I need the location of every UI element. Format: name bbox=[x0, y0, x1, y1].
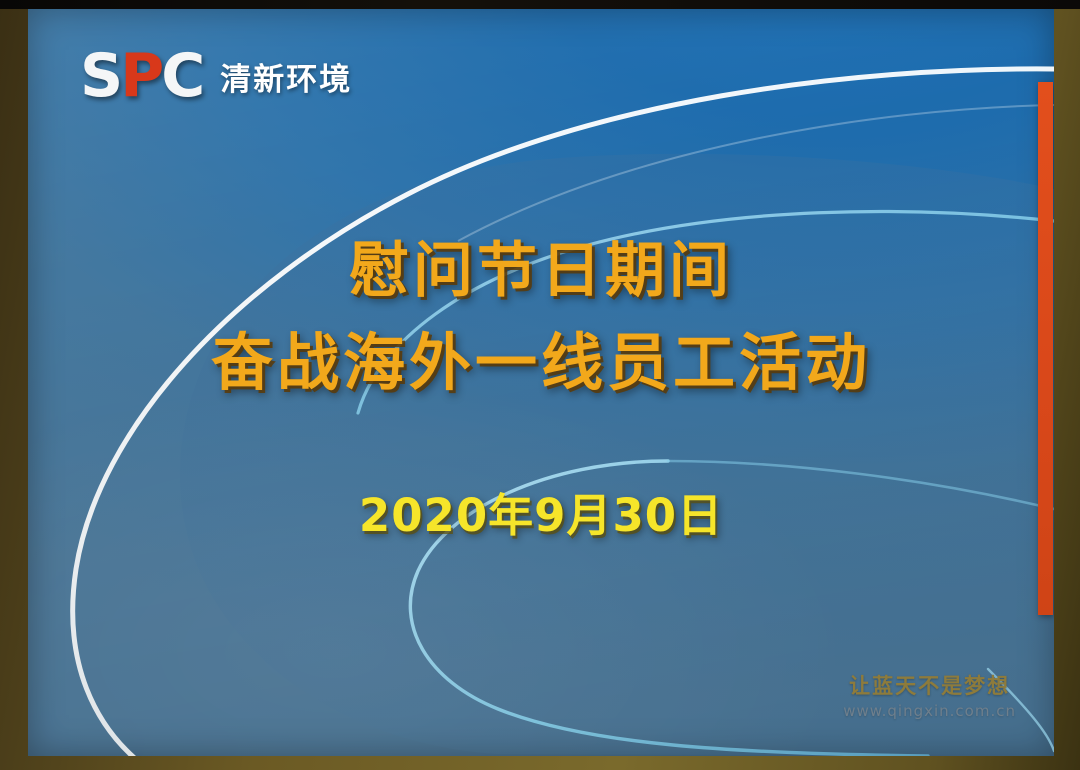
projected-slide-photo-frame: S P C 清新环境 慰问节日期间 奋战海外一线员工活动 2020年9月30日 … bbox=[0, 0, 1080, 770]
company-name: 清新环境 bbox=[220, 54, 352, 99]
brand-logo: S P C 清新环境 bbox=[80, 47, 352, 105]
footer-url: www.qingxin.com.cn bbox=[843, 701, 1016, 723]
headline-line-2: 奋战海外一线员工活动 bbox=[28, 315, 1054, 411]
logo-letter-s: S bbox=[80, 47, 120, 105]
event-date: 2020年9月30日 bbox=[28, 479, 1054, 544]
logo-letter-p: P bbox=[120, 47, 161, 105]
footer-slogan: 让蓝天不是梦想 bbox=[843, 671, 1016, 701]
headline-line-1: 慰问节日期间 bbox=[28, 227, 1054, 315]
slide-footer: 让蓝天不是梦想 www.qingxin.com.cn bbox=[843, 671, 1016, 723]
slide-headline: 慰问节日期间 奋战海外一线员工活动 bbox=[28, 227, 1054, 411]
spc-logo-mark: S P C bbox=[80, 47, 202, 105]
top-dark-band bbox=[0, 0, 1080, 9]
logo-letter-c: C bbox=[161, 47, 202, 105]
presentation-slide: S P C 清新环境 慰问节日期间 奋战海外一线员工活动 2020年9月30日 … bbox=[28, 9, 1054, 756]
